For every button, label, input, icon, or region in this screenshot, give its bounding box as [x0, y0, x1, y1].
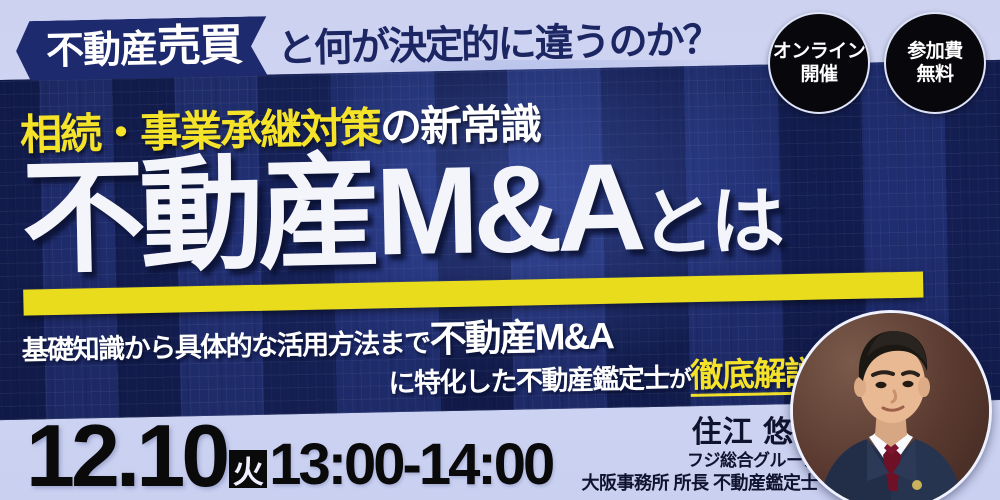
event-date: 12.10	[26, 418, 226, 494]
top-tail-c: に違うのか？	[497, 18, 720, 66]
subtitle-line1-text: 基礎知識から具体的な活用方法まで	[21, 328, 430, 366]
subtitle-line1-emphasis: 不動産M&A	[429, 315, 613, 360]
subtitle-line2-particle: が	[669, 366, 691, 392]
speaker-organization: フジ総合グループ	[581, 450, 818, 471]
badge-free-line1: 参加費	[907, 40, 963, 63]
event-date-row: 12.10 火 13:00-14:00	[26, 418, 552, 494]
badge-free: 参加費 無料	[884, 12, 986, 114]
badge-group: オンライン 開催 参加費 無料	[768, 12, 986, 114]
topic-tag-emphasis: 売買	[157, 21, 242, 72]
topic-tag-banner: 不動産売買	[15, 16, 267, 81]
event-time: 13:00-14:00	[269, 437, 552, 492]
badge-online: オンライン 開催	[768, 12, 870, 114]
main-title-block: 不動産M&Aとは	[0, 142, 1000, 312]
speaker-name: 住江 悠	[692, 416, 794, 449]
top-tail-a: と何が	[277, 25, 389, 70]
event-weekday-badge: 火	[229, 450, 267, 488]
main-title-suffix: とは	[640, 179, 782, 265]
speaker-role: 大阪事務所 所長 不動産鑑定士	[581, 472, 818, 495]
main-title-text: 不動産M&A	[20, 138, 641, 288]
speaker-info: 住江 悠氏 フジ総合グループ 大阪事務所 所長 不動産鑑定士	[581, 416, 818, 494]
portrait-illustration	[793, 313, 989, 500]
top-tail-emphasis: 決定的	[388, 23, 498, 68]
badge-online-line2: 開催	[800, 63, 837, 86]
top-headline-tail: と何が決定的に違うのか？	[276, 8, 720, 73]
subtitle-block: 基礎知識から具体的な活用方法まで不動産M&A に特化した不動産鑑定士が徹底解説	[21, 312, 822, 406]
speaker-name-row: 住江 悠氏	[581, 416, 818, 449]
badge-online-line1: オンライン	[773, 40, 866, 63]
webinar-banner: 不動産売買 と何が決定的に違うのか？ オンライン 開催 参加費 無料 相続・事業…	[0, 0, 1000, 500]
badge-free-line2: 無料	[916, 63, 953, 86]
main-title: 不動産M&Aとは	[21, 142, 782, 281]
subtitle-line2-text: に特化した不動産鑑定士	[388, 363, 669, 398]
speaker-portrait	[790, 310, 992, 500]
topic-tag-prefix: 不動産	[46, 28, 158, 72]
